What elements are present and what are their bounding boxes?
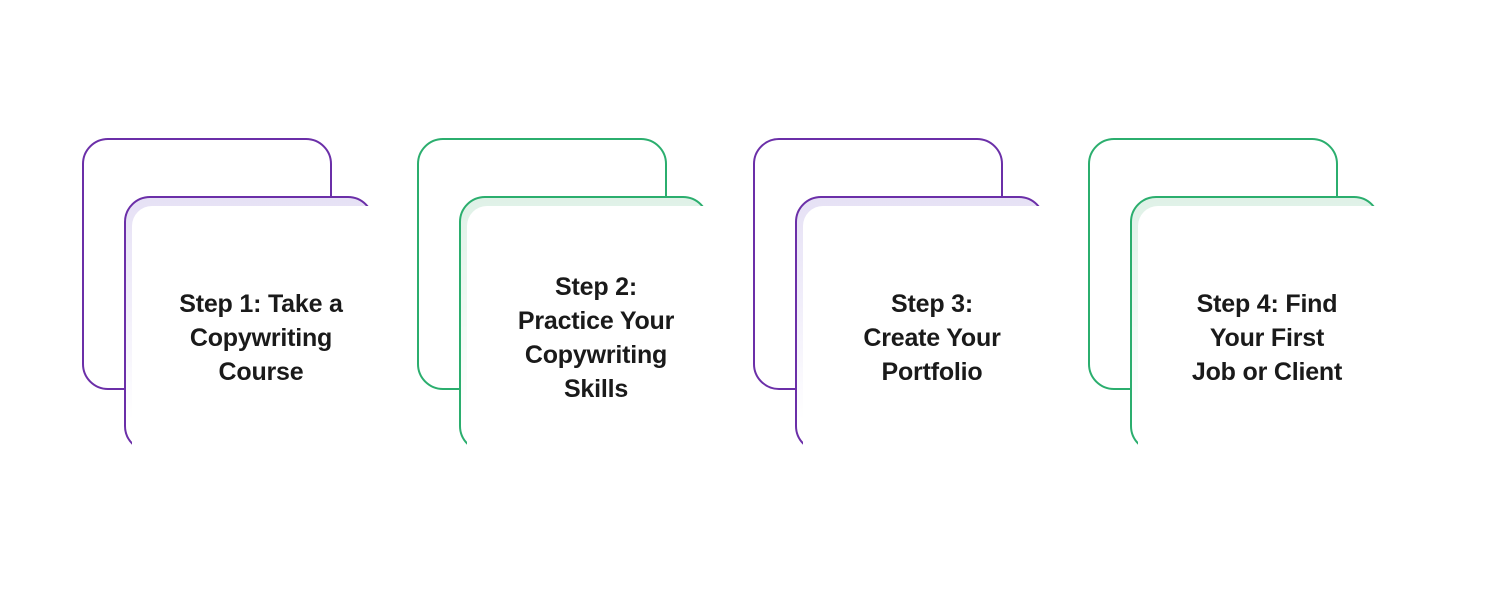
step-card-4-front-outline: Step 4: Find Your First Job or Client: [1130, 196, 1380, 452]
steps-infographic: Step 1: Take a Copywriting Course Step 2…: [0, 0, 1500, 600]
step-card-4-face: Step 4: Find Your First Job or Client: [1138, 206, 1396, 470]
step-card-1[interactable]: Step 1: Take a Copywriting Course: [82, 138, 382, 463]
step-card-2-front-outline: Step 2: Practice Your Copywriting Skills: [459, 196, 709, 452]
step-card-3[interactable]: Step 3: Create Your Portfolio: [753, 138, 1053, 463]
step-card-3-face: Step 3: Create Your Portfolio: [803, 206, 1061, 470]
step-card-4[interactable]: Step 4: Find Your First Job or Client: [1088, 138, 1388, 463]
step-card-1-label: Step 1: Take a Copywriting Course: [179, 287, 342, 389]
step-card-2-label: Step 2: Practice Your Copywriting Skills: [518, 270, 674, 406]
step-card-1-front-outline: Step 1: Take a Copywriting Course: [124, 196, 374, 452]
step-card-3-label: Step 3: Create Your Portfolio: [863, 287, 1000, 389]
step-card-2-face: Step 2: Practice Your Copywriting Skills: [467, 206, 725, 470]
step-card-4-label: Step 4: Find Your First Job or Client: [1192, 287, 1342, 389]
steps-row: Step 1: Take a Copywriting Course Step 2…: [0, 0, 1500, 600]
step-card-1-face: Step 1: Take a Copywriting Course: [132, 206, 390, 470]
step-card-3-front-outline: Step 3: Create Your Portfolio: [795, 196, 1045, 452]
step-card-2[interactable]: Step 2: Practice Your Copywriting Skills: [417, 138, 717, 463]
